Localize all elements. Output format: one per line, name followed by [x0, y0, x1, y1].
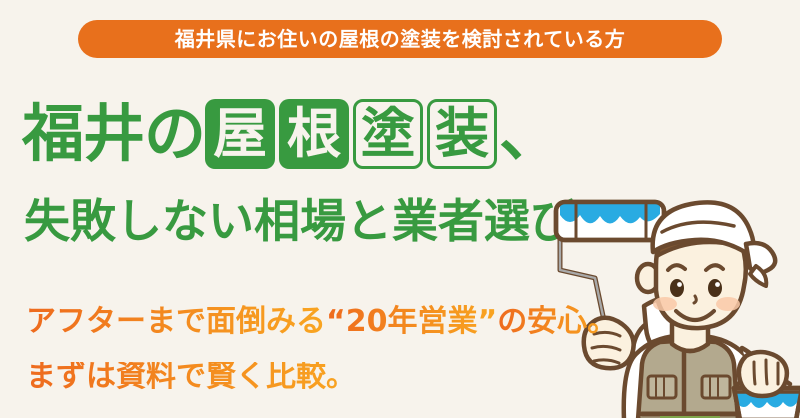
eyebrow-pill: 福井県にお住いの屋根の塗装を検討されている方 — [78, 20, 722, 58]
headline-line-1: 福井の 屋 根 塗 装 、 — [22, 96, 561, 172]
headline-comma: 、 — [499, 103, 561, 165]
headline-box-tosou-1: 塗 — [353, 99, 423, 169]
tagline-line-2: まずは資料で賢く比較。 — [26, 362, 356, 392]
tagline-after: の安心。 — [497, 304, 617, 339]
headline-box-yane-1: 屋 — [205, 99, 275, 169]
promo-banner: 福井県にお住いの屋根の塗装を検討されている方 福井の 屋 根 塗 装 、 失敗し… — [0, 0, 800, 418]
tagline-highlight: “20年営業” — [326, 304, 497, 339]
headline-line-2: 失敗しない相場と業者選び — [24, 198, 576, 244]
tagline-before: アフターまで面倒みる — [26, 304, 326, 339]
headline-box-tosou-2: 装 — [427, 99, 497, 169]
headline-box-yane-2: 根 — [279, 99, 349, 169]
eyebrow-text: 福井県にお住いの屋根の塗装を検討されている方 — [175, 29, 625, 49]
headline-prefix: 福井の — [22, 103, 205, 165]
tagline-line-1: アフターまで面倒みる“20年営業”の安心。 — [26, 307, 617, 337]
